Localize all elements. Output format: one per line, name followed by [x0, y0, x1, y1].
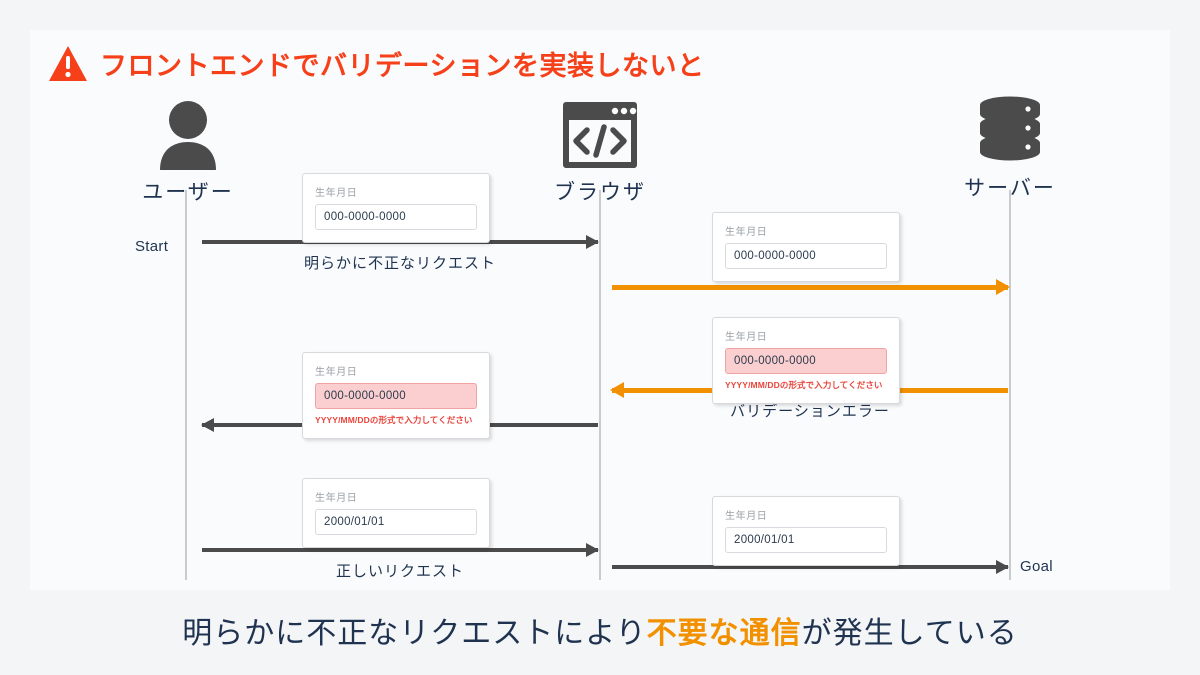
form-field-label: 生年月日 [315, 184, 477, 199]
browser-code-icon [520, 92, 680, 170]
form-card-invalid-browser[interactable]: 生年月日 000-0000-0000 [712, 212, 900, 282]
birthdate-input[interactable]: 000-0000-0000 [315, 204, 477, 230]
validation-error-message: YYYY/MM/DDの形式で入力してください [725, 379, 887, 391]
arrowhead-right-icon [586, 543, 599, 557]
slide-title-text: フロントエンドでバリデーションを実装しないと [100, 44, 704, 83]
arrow-forward-to-server [612, 280, 1008, 294]
caption-highlight: 不要な通信 [647, 617, 802, 650]
arrow-shaft [202, 548, 598, 552]
validation-error-message: YYYY/MM/DDの形式で入力してください [315, 414, 477, 426]
form-field-label: 生年月日 [315, 363, 477, 378]
slide-title: フロントエンドでバリデーションを実装しないと [48, 44, 704, 83]
birthdate-input[interactable]: 2000/01/01 [725, 527, 887, 553]
form-card-valid-user[interactable]: 生年月日 2000/01/01 [302, 478, 490, 548]
actor-user-label: ユーザー [108, 176, 268, 206]
form-card-invalid-user[interactable]: 生年月日 000-0000-0000 [302, 173, 490, 243]
birthdate-input[interactable]: 000-0000-0000 [315, 383, 477, 409]
form-field-label: 生年月日 [725, 223, 887, 238]
start-label: Start [135, 238, 168, 255]
goal-label: Goal [1020, 558, 1053, 575]
form-field-label: 生年月日 [725, 328, 887, 343]
form-card-error-browser[interactable]: 生年月日 000-0000-0000 YYYY/MM/DDの形式で入力してくださ… [712, 317, 900, 404]
caption-after: が発生している [802, 617, 1018, 650]
birthdate-input[interactable]: 000-0000-0000 [725, 243, 887, 269]
arrowhead-right-icon [996, 560, 1009, 574]
actor-user: ユーザー [108, 92, 268, 206]
lifeline-server [1009, 190, 1011, 580]
user-icon [108, 92, 268, 170]
actor-server: サーバー [930, 88, 1090, 202]
birthdate-input[interactable]: 2000/01/01 [315, 509, 477, 535]
database-server-icon [930, 88, 1090, 166]
diagram-panel: フロントエンドでバリデーションを実装しないと ユーザー [30, 30, 1170, 590]
arrowhead-left-icon [201, 418, 214, 432]
form-field-label: 生年月日 [315, 489, 477, 504]
form-card-error-user[interactable]: 生年月日 000-0000-0000 YYYY/MM/DDの形式で入力してくださ… [302, 352, 490, 439]
arrowhead-right-icon [586, 235, 599, 249]
slide-canvas: フロントエンドでバリデーションを実装しないと ユーザー [0, 0, 1200, 675]
arrow-shaft [612, 285, 1008, 290]
arrowhead-left-icon [610, 382, 624, 398]
birthdate-input[interactable]: 000-0000-0000 [725, 348, 887, 374]
lifeline-browser [599, 190, 601, 580]
warning-triangle-icon [48, 45, 88, 83]
slide-caption: 明らかに不正なリクエストにより不要な通信が発生している [0, 608, 1200, 652]
form-field-label: 生年月日 [725, 507, 887, 522]
arrow-label-request-invalid: 明らかに不正なリクエスト [202, 252, 598, 273]
caption-before: 明らかに不正なリクエストにより [182, 617, 646, 650]
arrow-label-request-valid: 正しいリクエスト [202, 560, 598, 581]
form-card-valid-browser[interactable]: 生年月日 2000/01/01 [712, 496, 900, 566]
lifeline-user [185, 190, 187, 580]
actor-browser: ブラウザ [520, 92, 680, 206]
arrowhead-right-icon [996, 279, 1010, 295]
